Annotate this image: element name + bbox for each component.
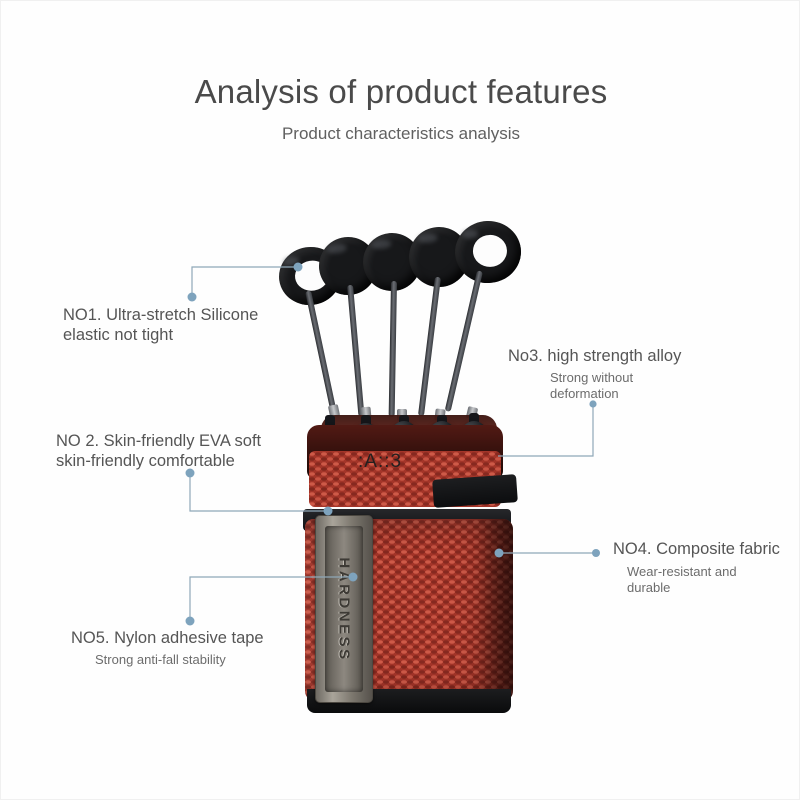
callout-no4: NO4. Composite fabric Wear-resistant and…	[613, 539, 780, 596]
callout-no2: NO 2. Skin-friendly EVA soft skin-friend…	[56, 431, 261, 471]
callout-no3: No3. high strength alloy Strong without …	[508, 346, 681, 402]
page-title: Analysis of product features	[1, 73, 800, 111]
velcro-tab	[432, 474, 518, 508]
end-dot-4	[592, 549, 600, 557]
hardness-metal-buckle: HARDNESS	[315, 515, 373, 703]
alloy-rod-5	[445, 270, 483, 412]
product-overlay-code: :A::3	[358, 451, 402, 473]
callout-no2-title: NO 2. Skin-friendly EVA soft skin-friend…	[56, 431, 261, 471]
alloy-rod-2	[347, 285, 364, 417]
product-image: HARDNESS :A::3	[263, 219, 563, 729]
alloy-rod-3	[389, 281, 397, 417]
callout-no5-subtitle: Strong anti-fall stability	[95, 652, 264, 668]
end-dot-5	[186, 617, 195, 626]
buckle-window: HARDNESS	[325, 526, 363, 692]
end-dot-1	[188, 293, 197, 302]
callout-no3-title: No3. high strength alloy	[508, 346, 681, 366]
alloy-rod-4	[418, 277, 441, 417]
infographic-canvas: Analysis of product features Product cha…	[0, 0, 800, 800]
callout-no4-subtitle: Wear-resistant and durable	[627, 564, 780, 596]
alloy-rod-1	[305, 290, 337, 416]
buckle-brand-text: HARDNESS	[336, 557, 353, 661]
cuff-shadow	[477, 519, 513, 701]
callout-no4-title: NO4. Composite fabric	[613, 539, 780, 559]
callout-no5: NO5. Nylon adhesive tape Strong anti-fal…	[71, 628, 264, 668]
callout-no1-title: NO1. Ultra-stretch Silicone elastic not …	[63, 305, 258, 345]
callout-no5-title: NO5. Nylon adhesive tape	[71, 628, 264, 648]
callout-no3-subtitle: Strong without deformation	[550, 370, 681, 402]
page-subtitle: Product characteristics analysis	[1, 124, 800, 144]
finger-ring-5	[454, 220, 522, 284]
callout-no1: NO1. Ultra-stretch Silicone elastic not …	[63, 305, 258, 345]
